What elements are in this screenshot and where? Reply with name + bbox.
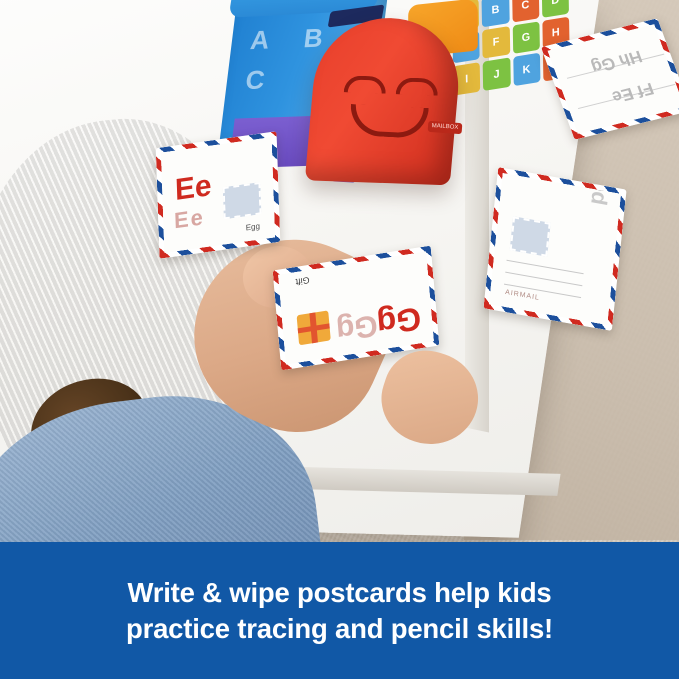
stamp-box (510, 216, 551, 256)
caption-line-1: Write & wipe postcards help kids (127, 575, 551, 611)
address-lines (503, 260, 584, 309)
card-word-label: Gift (295, 275, 310, 287)
card-trace-letter-text: Gg (335, 307, 379, 347)
alphabet-tile: B (482, 0, 509, 27)
stamp-box (223, 182, 262, 219)
trace-letter-text: Hh Gg (588, 46, 644, 77)
alphabet-tile: K (513, 53, 540, 86)
address-line (507, 260, 584, 275)
gift-box-icon (297, 310, 331, 345)
card-face: Dd AIRMAIL (490, 174, 620, 324)
alphabet-tile: F (482, 26, 509, 59)
mailbox-brand-badge: MAILBOX (428, 121, 463, 134)
card-trace-letter-text: Ee (174, 204, 206, 234)
alphabet-tile: C (512, 0, 539, 22)
product-photo-scene: A B C D E F G H I J K L A B C MAILBOX Ff… (0, 0, 679, 679)
card-word-label: Egg (246, 221, 260, 232)
caption-banner: Write & wipe postcards help kids practic… (0, 542, 679, 679)
card-letter-text: Gg (375, 299, 422, 343)
alphabet-tile: J (483, 58, 510, 91)
blank-postcard-right: Dd AIRMAIL (483, 167, 626, 331)
address-line (505, 272, 582, 287)
card-letter-text: Ee (174, 169, 212, 208)
alphabet-tile: D (542, 0, 569, 18)
card-face: Gg Gg Gift (279, 252, 433, 363)
alphabet-tile: G (512, 21, 539, 54)
trace-letter-text: Ff Ee (609, 78, 656, 107)
trace-letters-group: Ff Ee Hh Gg (549, 25, 679, 132)
postcard-letter-e: Ee Ee Egg (156, 131, 281, 259)
card-face: Ff Ee Hh Gg (549, 25, 679, 132)
card-face: Ee Ee Egg (162, 138, 274, 252)
caption-line-2: practice tracing and pencil skills! (126, 611, 553, 647)
